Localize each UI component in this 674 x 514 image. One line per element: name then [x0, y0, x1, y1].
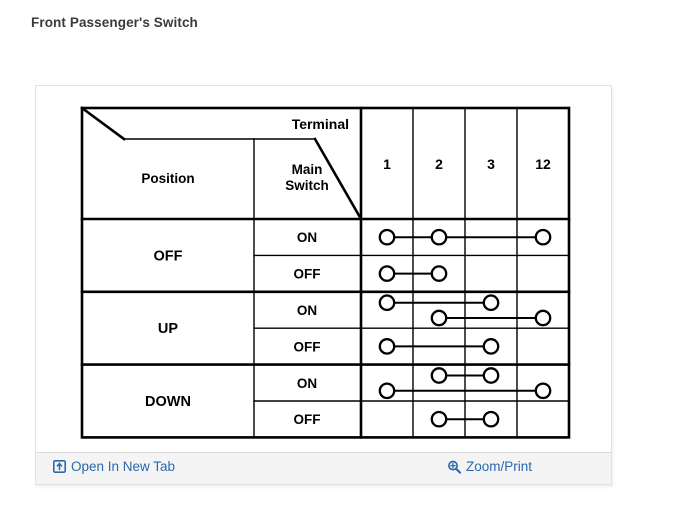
main-switch-cell-up-on: ON [297, 303, 317, 318]
main-switch-cell-down-off: OFF [294, 412, 321, 427]
main-switch-cell-down-on: ON [297, 376, 317, 391]
open-in-new-tab-label: Open In New Tab [71, 459, 175, 474]
magnifier-plus-icon [447, 460, 461, 474]
terminal-node-12 [536, 311, 550, 325]
page-title: Front Passenger's Switch [31, 15, 198, 30]
header-terminal-label: Terminal [292, 116, 349, 132]
position-cell-down: DOWN [145, 394, 191, 410]
zoom-print-link[interactable]: Zoom/Print [447, 459, 532, 474]
open-in-new-tab-link[interactable]: Open In New Tab [52, 459, 175, 474]
terminal-header-1: 1 [383, 156, 391, 172]
terminal-node-1 [380, 230, 394, 244]
terminal-node-3 [484, 412, 498, 426]
position-cell-off: OFF [154, 248, 183, 264]
terminal-node-2 [432, 266, 446, 280]
switch-continuity-diagram[interactable]: TerminalPositionMainSwitch12312ONOFFOFFO… [36, 86, 611, 452]
terminal-node-2 [432, 311, 446, 325]
header-position-label: Position [141, 171, 194, 186]
terminal-header-3: 3 [487, 156, 495, 172]
main-switch-cell-off-on: ON [297, 230, 317, 245]
terminal-node-1 [380, 384, 394, 398]
diagram-card: TerminalPositionMainSwitch12312ONOFFOFFO… [35, 85, 612, 485]
terminal-header-12: 12 [535, 156, 551, 172]
header-main-switch-label-1: Main [292, 162, 323, 177]
terminal-node-2 [432, 368, 446, 382]
open-in-new-tab-icon [52, 460, 66, 474]
switch-table-svg: TerminalPositionMainSwitch12312ONOFFOFFO… [36, 86, 611, 452]
card-footer: Open In New Tab Zoom/Print [36, 452, 611, 484]
terminal-node-1 [380, 296, 394, 310]
screenshot-root: Front Passenger's Switch TerminalPositio… [0, 0, 674, 514]
zoom-print-label: Zoom/Print [466, 459, 532, 474]
position-cell-up: UP [158, 321, 178, 337]
terminal-node-1 [380, 339, 394, 353]
terminal-node-2 [432, 230, 446, 244]
main-switch-cell-up-off: OFF [294, 339, 321, 354]
terminal-node-1 [380, 266, 394, 280]
terminal-node-3 [484, 296, 498, 310]
terminal-node-2 [432, 412, 446, 426]
terminal-header-2: 2 [435, 156, 443, 172]
terminal-node-12 [536, 230, 550, 244]
terminal-node-3 [484, 368, 498, 382]
header-main-switch-label-2: Switch [285, 178, 329, 193]
terminal-node-12 [536, 384, 550, 398]
main-switch-cell-off-off: OFF [294, 267, 321, 282]
terminal-node-3 [484, 339, 498, 353]
